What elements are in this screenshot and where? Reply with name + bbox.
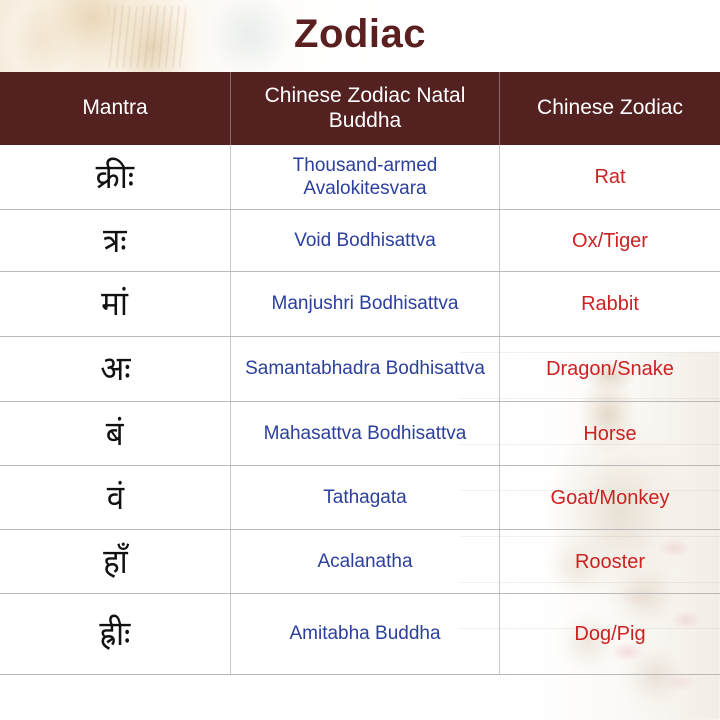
cell-chinese-zodiac: Ox/Tiger — [500, 210, 720, 271]
cell-natal-buddha: Tathagata — [231, 466, 500, 529]
cell-natal-buddha: Manjushri Bodhisattva — [231, 272, 500, 336]
siddham-bija-man-icon: मां — [102, 287, 129, 321]
siddham-bija-hrih-icon: क्रीः — [96, 160, 134, 194]
column-header-natal-buddha: Chinese Zodiac Natal Buddha — [231, 72, 500, 145]
cell-chinese-zodiac: Horse — [500, 402, 720, 465]
cell-natal-buddha: Samantabhadra Bodhisattva — [231, 337, 500, 401]
cell-natal-buddha: Void Bodhisattva — [231, 210, 500, 271]
cell-chinese-zodiac: Rooster — [500, 530, 720, 593]
table-row: त्रः Void Bodhisattva Ox/Tiger — [0, 210, 720, 272]
cell-natal-buddha: Thousand-armed Avalokitesvara — [231, 145, 500, 209]
cell-chinese-zodiac: Dog/Pig — [500, 594, 720, 674]
cell-mantra: त्रः — [0, 210, 231, 271]
cell-mantra: बं — [0, 402, 231, 465]
cell-chinese-zodiac: Rabbit — [500, 272, 720, 336]
zodiac-table: Mantra Chinese Zodiac Natal Buddha Chine… — [0, 72, 720, 675]
table-row: बं Mahasattva Bodhisattva Horse — [0, 402, 720, 466]
page-title-bar: Zodiac — [0, 0, 720, 72]
cell-mantra: मां — [0, 272, 231, 336]
cell-mantra: ह्रीः — [0, 594, 231, 674]
cell-chinese-zodiac: Dragon/Snake — [500, 337, 720, 401]
table-body: क्रीः Thousand-armed Avalokitesvara Rat … — [0, 145, 720, 675]
siddham-bija-ban-icon: बं — [106, 417, 124, 451]
table-row: क्रीः Thousand-armed Avalokitesvara Rat — [0, 145, 720, 210]
cell-mantra: क्रीः — [0, 145, 231, 209]
siddham-bija-hrih-amitabha-icon: ह्रीः — [99, 617, 130, 651]
cell-mantra: अः — [0, 337, 231, 401]
cell-natal-buddha: Amitabha Buddha — [231, 594, 500, 674]
cell-chinese-zodiac: Goat/Monkey — [500, 466, 720, 529]
siddham-bija-ham-icon: हाँ — [103, 545, 128, 579]
cell-mantra: वं — [0, 466, 231, 529]
zodiac-chart-page: Zodiac Mantra Chinese Zodiac Natal Buddh… — [0, 0, 720, 720]
cell-natal-buddha: Acalanatha — [231, 530, 500, 593]
column-header-chinese-zodiac: Chinese Zodiac — [500, 72, 720, 145]
table-row: हाँ Acalanatha Rooster — [0, 530, 720, 594]
page-title: Zodiac — [294, 14, 426, 58]
table-row: वं Tathagata Goat/Monkey — [0, 466, 720, 530]
table-row: ह्रीः Amitabha Buddha Dog/Pig — [0, 594, 720, 675]
table-header-row: Mantra Chinese Zodiac Natal Buddha Chine… — [0, 72, 720, 145]
siddham-bija-vam-icon: वं — [106, 481, 123, 515]
table-row: मां Manjushri Bodhisattva Rabbit — [0, 272, 720, 337]
cell-mantra: हाँ — [0, 530, 231, 593]
cell-natal-buddha: Mahasattva Bodhisattva — [231, 402, 500, 465]
column-header-mantra: Mantra — [0, 72, 231, 145]
siddham-bija-ah-icon: अः — [100, 352, 130, 386]
cell-chinese-zodiac: Rat — [500, 145, 720, 209]
table-row: अः Samantabhadra Bodhisattva Dragon/Snak… — [0, 337, 720, 402]
siddham-bija-trah-icon: त्रः — [103, 224, 127, 258]
